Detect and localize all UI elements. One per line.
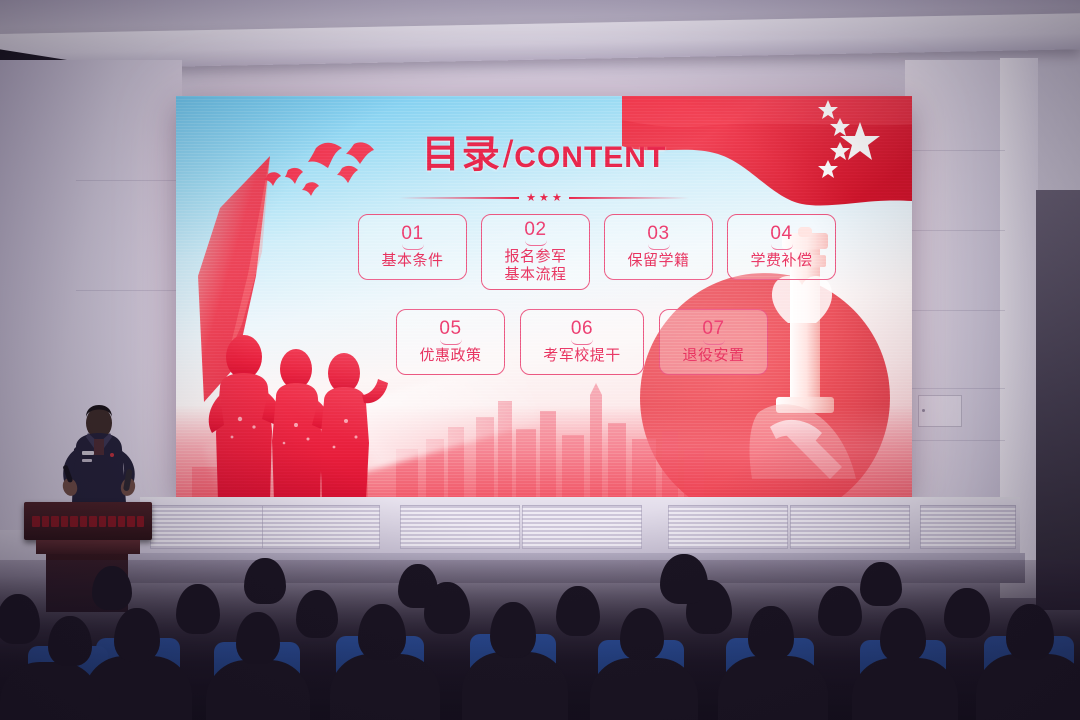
audience-shoulder: [0, 662, 100, 720]
toc-card-06[interactable]: 06 考军校提干: [520, 309, 644, 375]
toc-card-grid: 01 基本条件 02 报名参军 基本流程 03 保留学籍: [176, 214, 912, 375]
wall-seam: [76, 290, 182, 291]
wall-seam: [76, 180, 182, 181]
podium-top: [24, 502, 152, 540]
audience-head: [92, 566, 132, 610]
side-doorway: [1036, 190, 1080, 610]
audience-head: [944, 588, 990, 638]
toc-row-2: 05 优惠政策 06 考军校提干 07 退役安置: [176, 309, 912, 375]
toc-label: 保留学籍: [627, 252, 689, 270]
vent-louver: [522, 505, 642, 549]
toc-card-03[interactable]: 03 保留学籍: [604, 214, 713, 280]
divider-stars: ★ ★ ★: [526, 193, 562, 204]
wall-seam: [905, 310, 1005, 311]
audience-shoulder: [852, 658, 958, 720]
divider-line-right: [569, 197, 689, 199]
audience-head: [48, 616, 92, 666]
vent-louver: [400, 505, 520, 549]
toc-label-line1: 报名参军: [504, 248, 566, 266]
slide-content: 目录/CONTENT ★ ★ ★ 01 基本条件 02 报: [176, 96, 912, 497]
underline-swoosh-icon: [771, 244, 793, 250]
toc-card-01[interactable]: 01 基本条件: [358, 214, 467, 280]
audience-shoulder: [206, 660, 310, 720]
toc-label: 学费补偿: [750, 252, 812, 270]
screenshot-root: 目录/CONTENT ★ ★ ★ 01 基本条件 02 报: [0, 0, 1080, 720]
audience-head: [818, 586, 862, 636]
audience-shoulder: [330, 654, 440, 720]
vent-louver: [262, 505, 380, 549]
toc-number: 06: [571, 319, 593, 339]
toc-number: 05: [439, 319, 461, 339]
toc-card-05[interactable]: 05 优惠政策: [396, 309, 505, 375]
toc-label: 退役安置: [682, 347, 744, 365]
audience-shoulder: [590, 658, 698, 720]
toc-number: 01: [401, 224, 423, 244]
audience-shoulder: [462, 652, 568, 720]
audience-shoulder: [718, 656, 828, 720]
audience-head: [296, 590, 338, 638]
title-cn: 目录: [422, 134, 502, 176]
underline-swoosh-icon: [440, 339, 462, 345]
toc-number: 04: [770, 224, 792, 244]
led-presentation-screen: 目录/CONTENT ★ ★ ★ 01 基本条件 02 报: [176, 96, 912, 497]
audience-shoulder: [84, 656, 192, 720]
wall-seam: [905, 440, 1005, 441]
wall-seam: [905, 150, 1005, 151]
underline-swoosh-icon: [571, 339, 593, 345]
presenter-figure: [52, 403, 144, 513]
audience-head: [176, 584, 220, 634]
vent-louver: [790, 505, 910, 549]
wall-seam: [905, 388, 1005, 389]
wall-seam: [905, 230, 1005, 231]
toc-row-1: 01 基本条件 02 报名参军 基本流程 03 保留学籍: [176, 214, 912, 290]
title-en: CONTENT: [514, 141, 666, 174]
underline-swoosh-icon: [648, 244, 670, 250]
audience-head: [660, 554, 708, 604]
vent-louver: [150, 505, 270, 549]
underline-swoosh-icon: [703, 339, 725, 345]
audience-shoulder: [976, 654, 1080, 720]
toc-label: 基本条件: [381, 252, 443, 270]
toc-number: 07: [702, 319, 724, 339]
toc-label: 优惠政策: [419, 347, 481, 365]
title-divider: ★ ★ ★: [176, 192, 912, 204]
toc-card-07[interactable]: 07 退役安置: [659, 309, 768, 375]
toc-card-02[interactable]: 02 报名参军 基本流程: [481, 214, 590, 290]
toc-label: 考军校提干: [543, 347, 621, 365]
vent-louver: [920, 505, 1016, 549]
wall-access-panel: [918, 395, 962, 427]
audience-head: [244, 558, 286, 604]
audience-head: [556, 586, 600, 636]
vent-louver: [668, 505, 788, 549]
toc-number: 02: [524, 220, 546, 240]
title-separator: /: [503, 134, 514, 176]
underline-swoosh-icon: [525, 240, 547, 246]
divider-line-left: [399, 197, 519, 199]
slide-title-wrap: 目录/CONTENT: [176, 136, 912, 174]
podium-banner-text: [32, 514, 144, 528]
audience-head: [860, 562, 902, 606]
audience-head: [398, 564, 438, 608]
page-title: 目录/CONTENT: [422, 136, 667, 174]
toc-card-04[interactable]: 04 学费补偿: [727, 214, 836, 280]
audience-seating: [0, 560, 1080, 720]
underline-swoosh-icon: [402, 244, 424, 250]
podium-shelf: [36, 540, 140, 554]
toc-number: 03: [647, 224, 669, 244]
toc-label-line2: 基本流程: [504, 266, 566, 284]
